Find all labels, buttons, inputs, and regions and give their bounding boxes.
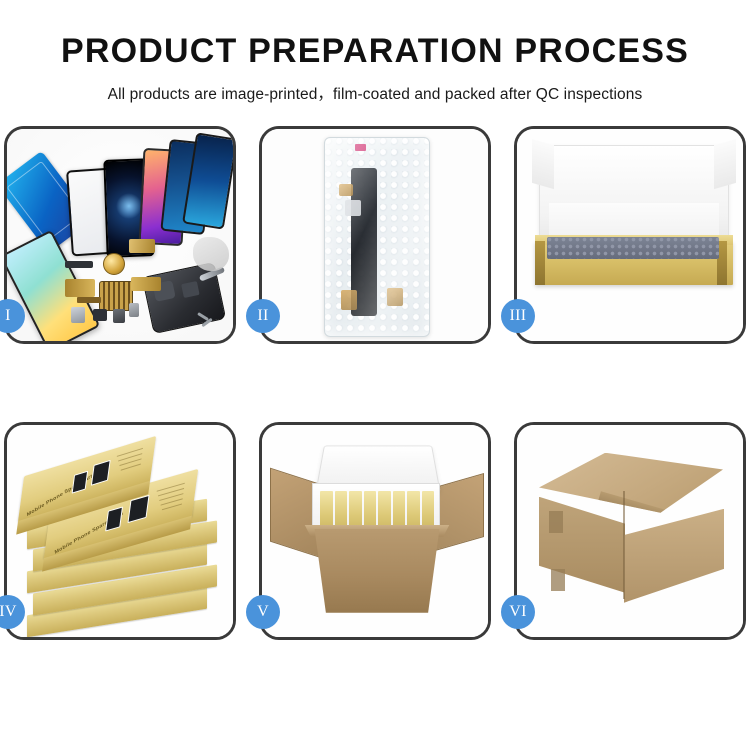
parts-photo xyxy=(7,129,233,341)
bar-component-gold xyxy=(77,297,101,303)
step-card-4: Mobile Phone Spare Parts Mobile Phone S xyxy=(4,422,236,640)
box-text-line xyxy=(157,482,185,491)
speaker-component xyxy=(103,253,125,275)
pink-label-sticker xyxy=(355,144,366,151)
carton-top-face xyxy=(539,453,723,513)
flex-cable-1 xyxy=(65,279,95,297)
step-card-5: V xyxy=(259,422,491,640)
step-card-3: III xyxy=(514,126,746,344)
flex-cable-2 xyxy=(131,277,161,291)
step-card-2: II xyxy=(259,126,491,344)
grey-foam-padding xyxy=(547,237,719,259)
box-screen-image-front-1 xyxy=(105,506,123,531)
connector-grid-part xyxy=(99,281,133,311)
box-screen-image-top-2 xyxy=(91,459,111,485)
box-screen-image-top-1 xyxy=(72,470,89,493)
page-title: PRODUCT PREPARATION PROCESS xyxy=(0,34,750,70)
carton-body xyxy=(306,529,448,613)
step-card-1: I xyxy=(4,126,236,344)
foam-carton-photo xyxy=(262,425,488,637)
small-part-4 xyxy=(129,303,139,317)
small-part-1 xyxy=(71,307,85,323)
bubble-wrap-photo xyxy=(262,129,488,341)
carton-tape-side-upper xyxy=(549,511,563,533)
bubble-wrap-bag xyxy=(324,137,430,337)
page-subtitle: All products are image-printed，film-coat… xyxy=(0,82,750,104)
wrapped-tab-left xyxy=(341,290,357,310)
infographic-page: PRODUCT PREPARATION PROCESS All products… xyxy=(0,0,750,750)
wrapped-tab-top xyxy=(339,184,353,196)
step-badge-5: V xyxy=(246,595,280,629)
bar-component xyxy=(65,261,93,268)
step-image-1 xyxy=(7,129,233,341)
step-badge-3: III xyxy=(501,299,535,333)
carton-right-face xyxy=(624,509,724,603)
step-card-6: VI xyxy=(514,422,746,640)
stacked-boxes-photo: Mobile Phone Spare Parts Mobile Phone S xyxy=(7,425,233,637)
flex-cable-3 xyxy=(129,239,155,253)
wrapped-tab-right xyxy=(387,288,403,306)
small-part-2 xyxy=(93,309,107,321)
step-image-3 xyxy=(517,129,743,341)
step-badge-2: II xyxy=(246,299,280,333)
step-image-4: Mobile Phone Spare Parts Mobile Phone S xyxy=(7,425,233,637)
steps-grid: I II xyxy=(4,126,746,640)
step-image-6 xyxy=(517,425,743,637)
box-end-left xyxy=(535,241,545,285)
step-image-2 xyxy=(262,129,488,341)
box-stack: Mobile Phone Spare Parts Mobile Phone S xyxy=(13,449,233,631)
step-image-5 xyxy=(262,425,488,637)
sealed-carton-photo xyxy=(517,425,743,637)
box-text-line xyxy=(117,448,143,457)
screws-icon xyxy=(197,309,219,327)
wrapped-flex-connector xyxy=(345,200,361,216)
inner-box-photo xyxy=(517,129,743,341)
header: PRODUCT PREPARATION PROCESS All products… xyxy=(0,0,750,104)
hand-silhouette xyxy=(193,237,229,271)
small-part-3 xyxy=(113,309,125,323)
carton-tape-side-lower xyxy=(551,569,565,591)
carton-edge-seam xyxy=(623,491,625,599)
step-badge-6: VI xyxy=(501,595,535,629)
